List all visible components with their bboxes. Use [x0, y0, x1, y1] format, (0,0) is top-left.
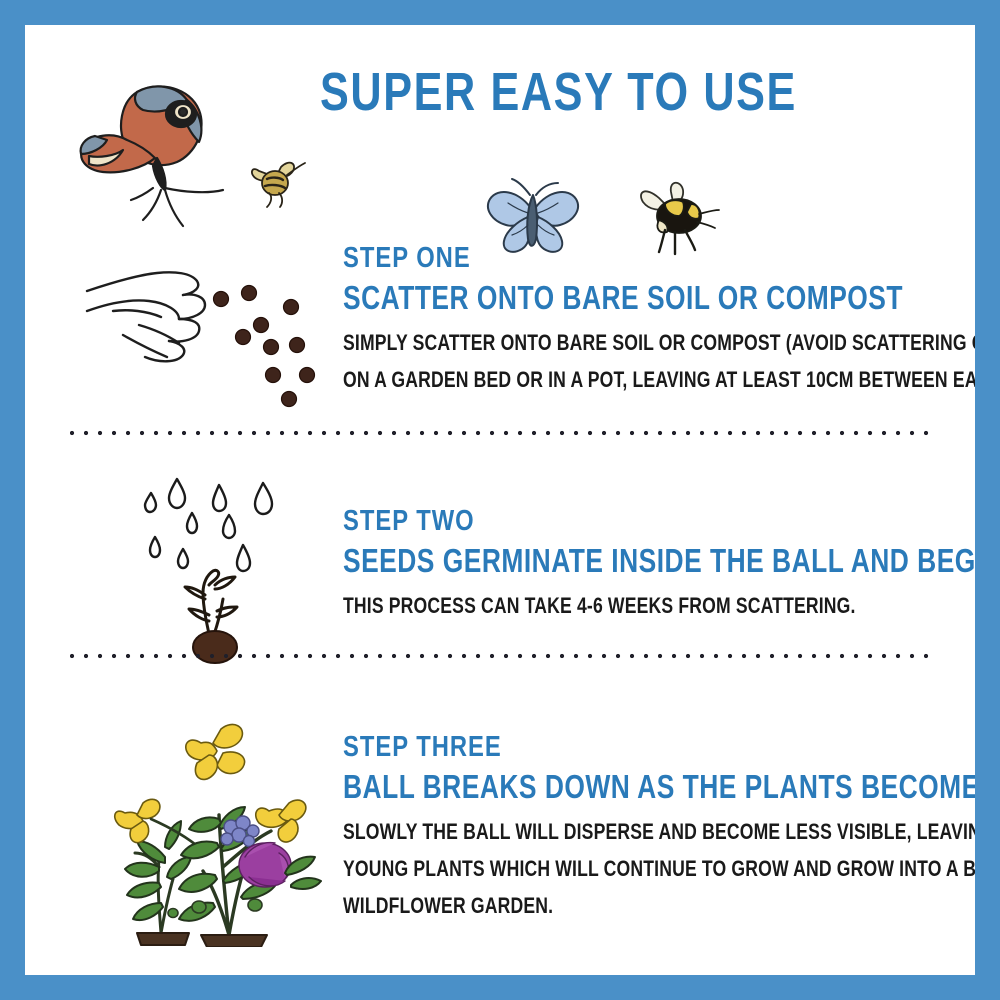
small-bee-icon: [247, 155, 309, 213]
step-three-body-line-1: SLOWLY THE BALL WILL DISPERSE AND BECOME…: [343, 814, 975, 851]
step-three-text: STEP THREE BALL BREAKS DOWN AS THE PLANT…: [343, 731, 975, 925]
step-two-headline: SEEDS GERMINATE INSIDE THE BALL AND BEGI…: [343, 541, 975, 581]
step-two-body-line-1: THIS PROCESS CAN TAKE 4-6 WEEKS FROM SCA…: [343, 588, 975, 625]
poster-canvas: SUPER EASY TO USE: [25, 25, 975, 975]
step-one-body-line-1: SIMPLY SCATTER ONTO BARE SOIL OR COMPOST…: [343, 325, 975, 362]
divider-one: [70, 429, 930, 437]
poster-frame: SUPER EASY TO USE: [0, 0, 1000, 1000]
rain-over-sprouting-seedling-icon: [123, 475, 303, 665]
step-three-headline: BALL BREAKS DOWN AS THE PLANTS BECOME ES…: [343, 767, 975, 807]
step-two-label: STEP TWO: [343, 505, 975, 539]
step-one-body-line-2: ON A GARDEN BED OR IN A POT, LEAVING AT …: [343, 362, 975, 399]
step-three-body-line-2: YOUNG PLANTS WHICH WILL CONTINUE TO GROW…: [343, 851, 975, 888]
step-three-label: STEP THREE: [343, 731, 975, 765]
step-two-text: STEP TWO SEEDS GERMINATE INSIDE THE BALL…: [343, 505, 975, 625]
page-title: SUPER EASY TO USE: [320, 65, 797, 119]
step-three-body-line-3: WILDFLOWER GARDEN.: [343, 888, 975, 925]
peacock-butterfly-icon: [65, 70, 245, 230]
divider-two: [70, 652, 930, 660]
wildflower-plants-icon: [103, 707, 338, 947]
step-one-label: STEP ONE: [343, 242, 975, 276]
step-one-headline: SCATTER ONTO BARE SOIL OR COMPOST: [343, 278, 975, 318]
step-one-text: STEP ONE SCATTER ONTO BARE SOIL OR COMPO…: [343, 242, 975, 399]
hand-scattering-seed-balls-icon: [83, 263, 333, 423]
